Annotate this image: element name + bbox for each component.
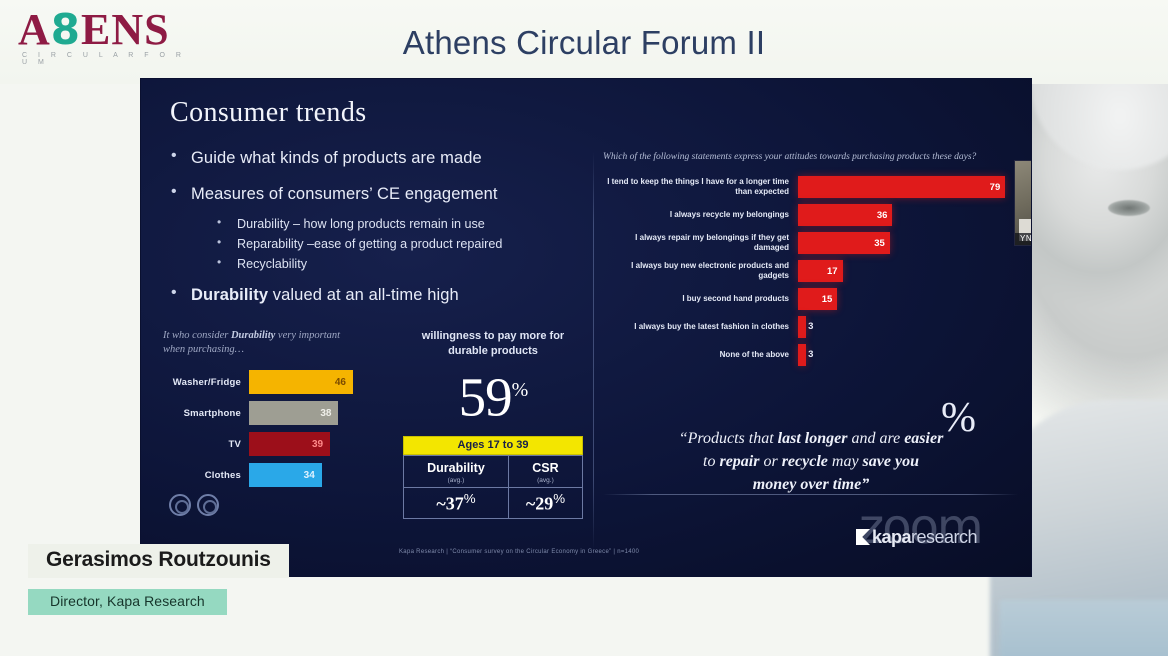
left-chart-bar-fill: 38 (249, 401, 338, 425)
sub-bullet-item: Reparability –ease of getting a product … (165, 237, 585, 251)
kapa-logo-mark-icon (856, 529, 870, 545)
left-chart-bar-row: Washer/Fridge46 (163, 369, 378, 395)
left-chart-bars: Washer/Fridge46Smartphone38TV39Clothes34 (163, 369, 378, 488)
kapa-logo-bold: kapa (872, 527, 911, 547)
right-chart-bar-fill (798, 316, 806, 338)
right-chart-bar-label: I always buy the latest fashion in cloth… (603, 322, 798, 333)
right-survey-chart: Which of the following statements expres… (603, 151, 1021, 372)
right-chart-bar-row: I buy second hand products15 (603, 288, 1021, 310)
right-chart-bar-value: 3 (808, 349, 818, 360)
left-chart-bar-value: 46 (335, 377, 353, 388)
right-chart-bar-value: 3 (808, 321, 818, 332)
left-chart-bar-value: 39 (312, 439, 330, 450)
table-header-csr: CSR (avg.) (508, 456, 582, 488)
left-chart-bar-fill: 46 (249, 370, 353, 394)
left-chart-question: It who consider Durability very importan… (163, 329, 363, 357)
quote-part: “Products that (679, 430, 778, 447)
willingness-value: 59% (403, 361, 583, 426)
left-chart-bar-label: Clothes (163, 470, 249, 481)
table-header-durability: Durability (avg.) (404, 456, 509, 488)
col-head-sub: (avg.) (511, 477, 580, 484)
right-chart-bar-fill: 15 (798, 288, 837, 310)
right-chart-bar-label: I always repair my belongings if they ge… (603, 233, 798, 254)
sub-bullet-item: Durability – how long products remain in… (165, 217, 585, 231)
fridge-icon (197, 494, 219, 516)
slide-bullet-list: Guide what kinds of products are made Me… (165, 149, 585, 322)
sub-bullet-item: Recyclability (165, 257, 585, 271)
bullet-item-durability: Durability valued at an all-time high (165, 286, 585, 305)
willingness-caption-line1: willingness to pay more for (403, 329, 583, 344)
right-chart-bar-row: I always buy new electronic products and… (603, 260, 1021, 282)
col-head-text: CSR (532, 461, 558, 475)
right-chart-bar-track: 36 (798, 204, 1021, 226)
willingness-caption-line2: durable products (403, 344, 583, 359)
presentation-slide[interactable]: Consumer trends Guide what kinds of prod… (141, 79, 1031, 576)
right-chart-bar-track: 79 (798, 176, 1021, 198)
cell-value: ~29 (526, 494, 553, 514)
background-portrait-eye (1108, 200, 1150, 216)
ages-band-label: Ages 17 to 39 (403, 436, 583, 455)
table-cell-durability-value: ~37% (404, 488, 509, 518)
durability-csr-table: Durability (avg.) CSR (avg.) ~37% ~29% (403, 455, 583, 518)
left-chart-bar-fill: 34 (249, 463, 322, 487)
appliance-icon-group (169, 494, 378, 516)
sub-bullet-list: Durability – how long products remain in… (165, 217, 585, 271)
right-chart-bar-label: I buy second hand products (603, 294, 798, 305)
right-chart-bar-label: I tend to keep the things I have for a l… (603, 177, 798, 198)
right-chart-bar-row: I tend to keep the things I have for a l… (603, 176, 1021, 198)
quote-bold: last longer (778, 430, 848, 447)
right-chart-bar-track: 17 (798, 260, 1021, 282)
table-row: ~37% ~29% (404, 488, 583, 518)
left-chart-bar-label: Smartphone (163, 408, 249, 419)
right-chart-bar-value: 15 (822, 294, 838, 305)
kapa-research-logo: kaparesearch (856, 527, 977, 548)
kapa-logo-light: research (911, 527, 977, 547)
right-chart-bar-fill: 79 (798, 176, 1005, 198)
header-bar: A8ENS C I R C U L A R F O R U M Athens C… (0, 0, 1168, 84)
speaker-name: Gerasimos Routzounis (28, 544, 289, 578)
left-chart-bar-row: Clothes34 (163, 462, 378, 488)
right-chart-bar-track: 35 (798, 232, 1021, 254)
slide-source-note: Kapa Research | “Consumer survey on the … (399, 549, 639, 555)
left-chart-bar-label: Washer/Fridge (163, 377, 249, 388)
right-chart-bar-value: 35 (874, 238, 890, 249)
left-chart-bar-fill: 39 (249, 432, 330, 456)
left-chart-bar-row: Smartphone38 (163, 400, 378, 426)
willingness-number: 59 (459, 366, 512, 427)
bullet-item: Measures of consumers’ CE engagement (165, 185, 585, 204)
cell-value: ~37 (436, 494, 463, 514)
left-chart-bar-track: 34 (249, 463, 353, 487)
pull-quote: “Products that last longer and are easie… (611, 427, 1011, 496)
right-chart-bar-label: I always recycle my belongings (603, 210, 798, 221)
left-chart-bar-value: 38 (320, 408, 338, 419)
left-chart-bar-row: TV39 (163, 431, 378, 457)
right-chart-bar-value: 36 (877, 210, 893, 221)
left-q-bold: Durability (231, 330, 275, 341)
left-bar-chart: It who consider Durability very importan… (163, 329, 378, 516)
background-bottom-band (1000, 600, 1168, 656)
quote-bold: save you (863, 453, 919, 470)
left-chart-bar-label: TV (163, 439, 249, 450)
table-cell-csr-value: ~29% (508, 488, 582, 518)
quote-bold: recycle (782, 453, 828, 470)
right-chart-bar-fill: 35 (798, 232, 890, 254)
left-chart-bar-track: 39 (249, 432, 353, 456)
right-chart-bar-row: I always repair my belongings if they ge… (603, 232, 1021, 254)
screen: A8ENS C I R C U L A R F O R U M Athens C… (0, 0, 1168, 656)
col-head-text: Durability (427, 461, 485, 475)
speaker-role-badge: Director, Kapa Research (28, 589, 227, 615)
bullet-rest-text: valued at an all-time high (268, 286, 459, 304)
left-q-pre: It who consider (163, 330, 231, 341)
quote-bold: easier (904, 430, 943, 447)
right-chart-bar-label: None of the above (603, 350, 798, 361)
bullet-item: Guide what kinds of products are made (165, 149, 585, 168)
cell-unit: % (464, 491, 476, 506)
bullet-bold-word: Durability (191, 286, 268, 304)
webcam-thumbnail[interactable]: YNAIA (1014, 160, 1031, 246)
left-chart-bar-value: 34 (304, 470, 322, 481)
page-title: Athens Circular Forum II (0, 24, 1168, 62)
right-chart-bar-row: None of the above3 (603, 344, 1021, 366)
cell-unit: % (553, 491, 565, 506)
right-chart-bars: I tend to keep the things I have for a l… (603, 176, 1021, 366)
left-chart-bar-track: 38 (249, 401, 353, 425)
right-chart-bar-track: 15 (798, 288, 1021, 310)
quote-bold: money over time” (753, 476, 869, 493)
right-chart-bar-fill: 17 (798, 260, 843, 282)
webcam-name-tag: YNAIA (1015, 233, 1031, 245)
quote-bold: repair (719, 453, 759, 470)
right-chart-bar-fill (798, 344, 806, 366)
table-header-row: Durability (avg.) CSR (avg.) (404, 456, 583, 488)
right-chart-bar-label: I always buy new electronic products and… (603, 261, 798, 282)
slide-title: Consumer trends (170, 97, 367, 129)
quote-part: or (759, 453, 781, 470)
willingness-unit: % (512, 379, 528, 401)
right-chart-bar-fill: 36 (798, 204, 892, 226)
slide-vertical-divider (593, 151, 594, 551)
right-chart-bar-track: 3 (798, 344, 1021, 366)
right-chart-bar-row: I always recycle my belongings36 (603, 204, 1021, 226)
right-chart-bar-value: 17 (827, 266, 843, 277)
quote-part: and are (847, 430, 904, 447)
right-chart-bar-track: 3 (798, 316, 1021, 338)
left-chart-bar-track: 46 (249, 370, 353, 394)
right-chart-question: Which of the following statements expres… (603, 151, 1003, 164)
washer-icon (169, 494, 191, 516)
willingness-to-pay-block: willingness to pay more for durable prod… (403, 329, 583, 519)
quote-part: may (828, 453, 863, 470)
col-head-sub: (avg.) (406, 477, 506, 484)
quote-part: to (703, 453, 719, 470)
right-chart-bar-row: I always buy the latest fashion in cloth… (603, 316, 1021, 338)
right-chart-bar-value: 79 (990, 182, 1006, 193)
